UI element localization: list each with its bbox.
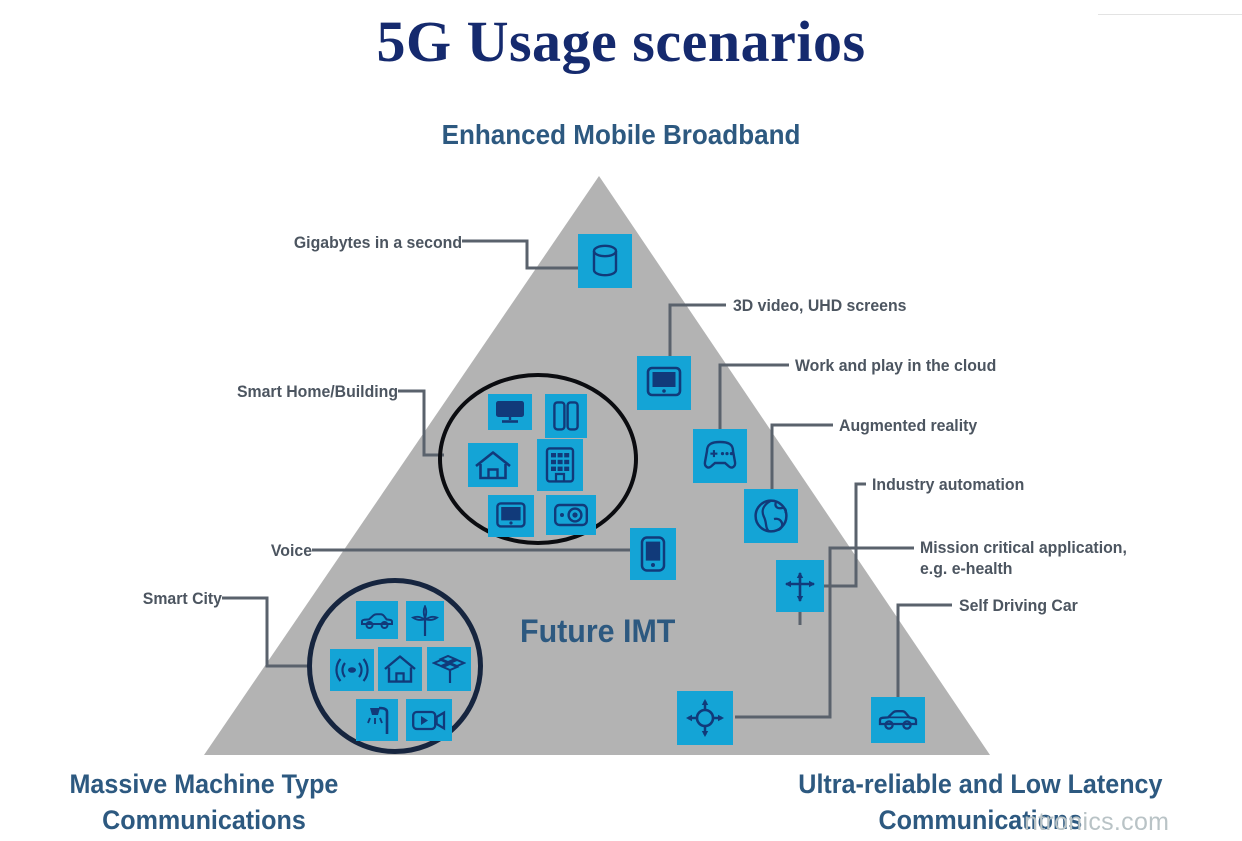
tile-wind-turbine[interactable] <box>406 601 444 641</box>
solar-panel-icon <box>432 653 466 685</box>
label-smart-city: Smart City <box>116 589 222 610</box>
cluster-smart-city-grid <box>312 583 478 749</box>
tile-hub-arrows[interactable] <box>677 691 733 745</box>
cluster-smart-city[interactable] <box>307 578 483 754</box>
tile-apartment-building[interactable] <box>537 439 583 491</box>
label-mission-critical-line1: Mission critical application, <box>920 538 1208 559</box>
tile-desktop-monitor[interactable] <box>488 394 532 430</box>
diagram-canvas: 5G Usage scenarios Enhanced Mobile Broad… <box>0 0 1242 841</box>
house-icon <box>474 450 512 480</box>
tile-books[interactable] <box>545 394 587 438</box>
tile-wireless-signal[interactable] <box>330 649 374 691</box>
gamepad-icon <box>699 439 741 473</box>
wireless-signal-icon <box>334 656 370 684</box>
corner-title-mmtc-line2: Communications <box>4 802 404 838</box>
label-augmented-reality: Augmented reality <box>839 416 977 437</box>
label-mission-critical-line2: e.g. e-health <box>920 559 1208 580</box>
tile-globe[interactable] <box>744 489 798 543</box>
car-icon <box>878 708 918 732</box>
tile-database[interactable] <box>578 234 632 288</box>
label-work-and-play-in-the-cloud: Work and play in the cloud <box>795 356 996 377</box>
tile-gamepad[interactable] <box>693 429 747 483</box>
wind-turbine-icon <box>411 605 439 637</box>
label-industry-automation: Industry automation <box>872 475 1024 496</box>
center-label-future-imt: Future IMT <box>520 613 675 650</box>
label-gigabytes-in-a-second: Gigabytes in a second <box>238 233 462 254</box>
house-icon <box>383 654 417 684</box>
tile-city-house[interactable] <box>378 647 422 691</box>
corner-title-urllc-line1: Ultra-reliable and Low Latency <box>720 766 1241 802</box>
label-self-driving-car: Self Driving Car <box>959 596 1078 617</box>
globe-icon <box>752 497 790 535</box>
projector-icon <box>553 501 589 529</box>
tile-video-camera[interactable] <box>406 699 452 741</box>
tile-city-car[interactable] <box>356 601 398 639</box>
label-smart-home-building: Smart Home/Building <box>177 382 398 403</box>
corner-title-embb: Enhanced Mobile Broadband <box>43 119 1198 151</box>
database-icon <box>588 243 622 279</box>
label-3d-video-uhd-screens: 3D video, UHD screens <box>733 296 906 317</box>
car-icon <box>360 610 394 630</box>
apartment-building-icon <box>544 446 576 484</box>
tile-car[interactable] <box>871 697 925 743</box>
tile-solar-panel[interactable] <box>427 647 471 691</box>
tv-monitor-icon <box>495 501 527 531</box>
monitor-icon <box>645 365 683 401</box>
tile-projector[interactable] <box>546 495 596 535</box>
hub-arrows-icon <box>684 697 726 739</box>
cluster-smart-home-grid <box>442 377 634 541</box>
cluster-smart-home-building[interactable] <box>438 373 638 545</box>
tile-monitor[interactable] <box>637 356 691 410</box>
street-light-icon <box>361 704 393 736</box>
smartphone-icon <box>639 535 667 573</box>
tile-resize-arrows[interactable] <box>776 560 824 612</box>
page-title: 5G Usage scenarios <box>0 8 1242 75</box>
watermark: ntronics.com <box>1024 808 1169 837</box>
tile-smartphone[interactable] <box>630 528 676 580</box>
corner-title-mmtc: Massive Machine Type Communications <box>4 766 404 838</box>
tile-tv-monitor[interactable] <box>488 495 534 537</box>
video-camera-icon <box>411 706 447 734</box>
resize-arrows-icon <box>782 567 818 605</box>
desktop-monitor-icon <box>494 399 526 425</box>
tile-street-light[interactable] <box>356 699 398 741</box>
corner-title-mmtc-line1: Massive Machine Type <box>4 766 404 802</box>
label-voice: Voice <box>216 541 312 562</box>
tile-house[interactable] <box>468 443 518 487</box>
books-icon <box>552 400 580 432</box>
label-mission-critical-application: Mission critical application, e.g. e-hea… <box>920 538 1208 580</box>
